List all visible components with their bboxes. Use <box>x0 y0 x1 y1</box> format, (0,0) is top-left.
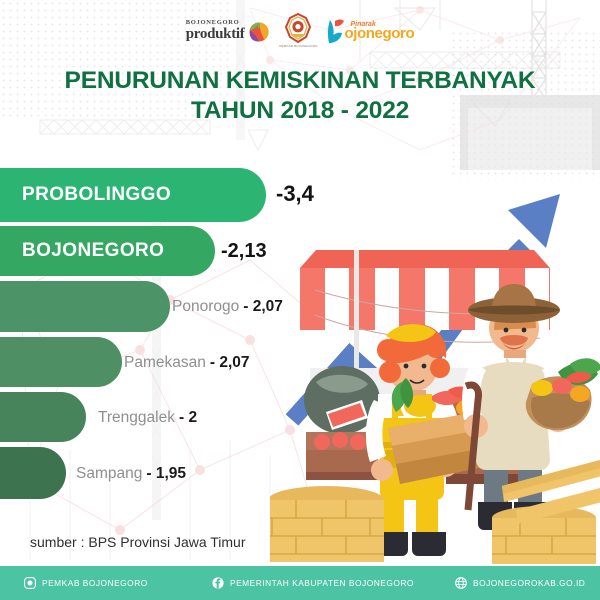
bar-value-bojonegoro: -2,13 <box>221 240 267 263</box>
bar-fill-trenggalek <box>0 392 86 442</box>
bar-row-bojonegoro[interactable]: BOJONEGORO <box>0 226 215 276</box>
bar-chart: PROBOLINGGO -3,4 BOJONEGORO -2,13 Ponoro… <box>0 0 600 600</box>
footer-item-facebook[interactable]: PEMERINTAH KABUPATEN BOJONEGORO <box>212 577 414 589</box>
bar-caption-sampang: Sampang - 1,95 <box>76 465 186 483</box>
bar-value-trenggalek: - 2 <box>179 409 197 427</box>
bar-value-pamekasan: - 2,07 <box>210 354 250 372</box>
footer-label-instagram: PEMKAB BOJONEGORO <box>42 578 148 588</box>
bar-row-sampang[interactable] <box>0 447 66 499</box>
globe-icon <box>455 577 467 589</box>
bar-value-probolinggo: -3,4 <box>276 181 314 207</box>
facebook-icon <box>212 577 224 589</box>
bar-value-sampang: - 1,95 <box>146 465 186 483</box>
footer-label-website: BOJONEGOROKAB.GO.ID <box>473 578 585 588</box>
bar-caption-pamekasan: Pamekasan - 2,07 <box>124 354 250 372</box>
bar-fill-ponorogo <box>0 281 170 332</box>
footer-item-instagram[interactable]: PEMKAB BOJONEGORO <box>24 577 148 589</box>
bar-caption-trenggalek: Trenggalek - 2 <box>98 409 197 427</box>
bar-label-pamekasan: Pamekasan <box>124 354 206 372</box>
bar-label-probolinggo: PROBOLINGGO <box>0 184 171 206</box>
bar-fill-sampang <box>0 447 66 499</box>
bar-label-sampang: Sampang <box>76 465 142 483</box>
bar-label-trenggalek: Trenggalek <box>98 409 175 427</box>
bar-row-pamekasan[interactable] <box>0 337 122 387</box>
footer-item-website[interactable]: BOJONEGOROKAB.GO.ID <box>455 577 585 589</box>
bar-label-bojonegoro: BOJONEGORO <box>0 240 164 262</box>
footer-label-facebook: PEMERINTAH KABUPATEN BOJONEGORO <box>230 578 414 588</box>
instagram-icon <box>24 577 36 589</box>
bar-value-ponorogo: - 2,07 <box>243 298 283 316</box>
footer-bar: PEMKAB BOJONEGORO PEMERINTAH KABUPATEN B… <box>0 566 600 600</box>
bar-row-trenggalek[interactable] <box>0 392 86 442</box>
bar-caption-ponorogo: Ponorogo - 2,07 <box>172 298 283 316</box>
bar-label-ponorogo: Ponorogo <box>172 298 239 316</box>
source-note: sumber : BPS Provinsi Jawa Timur <box>30 534 246 550</box>
bar-row-probolinggo[interactable]: PROBOLINGGO <box>0 168 266 222</box>
bar-fill-pamekasan <box>0 337 122 387</box>
infographic-poster: BOJONEGORO produktif PEMKAB BOJONEGORO <box>0 0 600 600</box>
bar-row-ponorogo[interactable] <box>0 281 170 332</box>
